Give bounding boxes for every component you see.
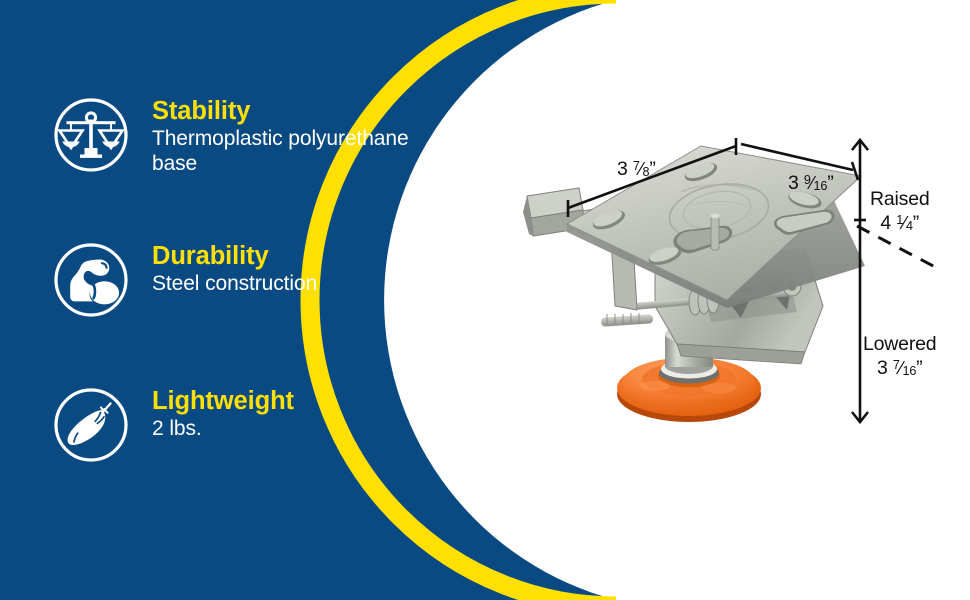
width-denominator: 8 [643,165,650,179]
infographic-canvas: Stability Thermoplastic polyurethane bas… [0,0,970,600]
flexed-bicep-icon [52,241,130,319]
dimension-lowered-label: Lowered 3 7⁄16” [863,333,936,381]
raised-value: 4 1⁄4” [870,212,930,236]
product-photo [505,120,970,480]
depth-unit: ” [827,172,833,194]
depth-denominator: 16 [814,179,828,193]
depth-whole: 3 [788,172,799,194]
width-unit: ” [649,158,655,180]
lowered-numerator: 7 [893,358,900,372]
width-whole: 3 [617,158,628,180]
top-mounting-plate [567,146,865,308]
feature-description: Steel construction [152,271,317,297]
feature-title: Lightweight [152,388,294,415]
lowered-unit: ” [916,357,922,379]
lowered-fraction: 7⁄16 [893,357,916,380]
dimension-width-label: 3 7⁄8” [617,158,656,181]
feature-text-block: Durability Steel construction [152,241,317,296]
feature-title: Stability [152,98,409,125]
lowered-denominator: 16 [903,364,917,378]
width-numerator: 7 [633,159,640,173]
raised-unit: ” [913,212,919,234]
width-fraction: 7⁄8 [633,159,650,181]
feature-item-durability: Durability Steel construction [52,241,317,319]
lowered-whole: 3 [877,357,888,379]
feature-text-block: Stability Thermoplastic polyurethane bas… [152,96,409,177]
feature-description: 2 lbs. [152,416,294,442]
depth-numerator: 9 [804,173,811,187]
feature-item-stability: Stability Thermoplastic polyurethane bas… [52,96,409,177]
feature-text-block: Lightweight 2 lbs. [152,386,294,441]
balance-scale-icon [52,96,130,174]
feather-icon [52,386,130,464]
feature-list: Stability Thermoplastic polyurethane bas… [0,0,470,600]
raised-denominator: 4 [906,219,913,233]
lowered-value: 3 7⁄16” [863,357,936,381]
dimension-depth-label: 3 9⁄16” [788,172,833,195]
raised-caption: Raised [870,188,930,212]
raised-whole: 4 [880,212,891,234]
lowered-caption: Lowered [863,333,936,357]
dimension-raised-label: Raised 4 1⁄4” [870,188,930,236]
raised-fraction: 1⁄4 [896,212,913,235]
depth-fraction: 9⁄16 [804,173,827,195]
feature-title: Durability [152,243,317,270]
product-figure: 3 7⁄8” 3 9⁄16” Raised 4 1⁄4” Lowered 3 7… [505,120,970,480]
feature-item-lightweight: Lightweight 2 lbs. [52,386,294,464]
feature-description: Thermoplastic polyurethane base [152,126,409,177]
